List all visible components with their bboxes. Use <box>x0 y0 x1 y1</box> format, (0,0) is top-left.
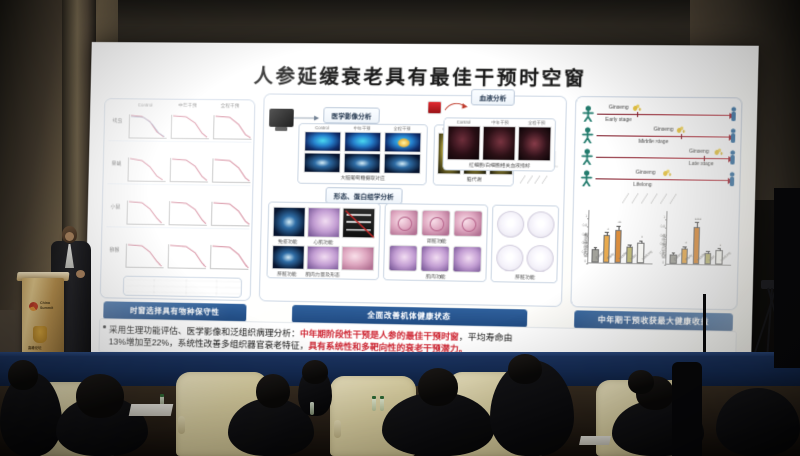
blood-image-grid: Control 中年干预 全程干预 红细胞/白细胞相关血液指标 <box>442 117 556 171</box>
error-bar <box>618 226 619 230</box>
y-tick <box>586 227 588 228</box>
species-row: 小鼠 <box>106 197 250 229</box>
timeline-axis <box>596 157 729 160</box>
significance-marker: * <box>681 241 692 246</box>
histology-label: 肌肉力量及形态 <box>305 271 340 279</box>
panel-intervention-window: Ginseng Early stage Ginseng <box>570 96 742 310</box>
imaging-image-grid: Control 中年干预 全程干预 大脑葡萄糖摄取对应 <box>297 123 428 185</box>
histology-image <box>306 246 339 271</box>
chair-arm <box>334 420 341 438</box>
error-bar-cap <box>639 240 643 241</box>
histology-image <box>307 207 340 238</box>
timeline-axis <box>595 178 728 181</box>
error-bar <box>697 223 698 228</box>
blood-smear-image <box>517 126 551 161</box>
error-bar <box>719 249 720 251</box>
cell-grid-caption: 肌肉功能 <box>384 272 488 281</box>
error-bar <box>673 253 674 255</box>
y-tick <box>664 228 666 229</box>
ginseng-icon <box>663 171 667 176</box>
audience-head <box>418 368 458 406</box>
chair-arm <box>178 416 185 434</box>
y-tick <box>665 219 667 220</box>
survival-curve-mini <box>127 157 166 182</box>
species-row: 线虫 <box>108 111 252 143</box>
bottle-cap <box>380 396 384 399</box>
logo-text: China Summit <box>40 301 53 312</box>
water-bottle <box>310 402 314 415</box>
significance-marker: ** <box>614 220 625 225</box>
species-label: 线虫 <box>109 119 126 125</box>
speaker-hand <box>76 270 85 278</box>
timeline-row: Ginseng Lifelong <box>578 168 737 191</box>
survival-curve-mini <box>213 115 252 140</box>
significance-marker: * <box>603 226 614 231</box>
image-col-label: Control <box>304 125 341 130</box>
human-figure-icon <box>580 170 594 187</box>
significance-marker: * <box>637 235 648 240</box>
y-tick <box>664 255 666 256</box>
brain-scan-image <box>304 131 341 152</box>
histology-image <box>272 245 305 270</box>
human-outcome-icon <box>728 150 737 166</box>
blood-smear-image <box>482 126 516 161</box>
brain-scan-image <box>383 153 421 174</box>
podium-seal-label: 高峰论坛 <box>28 345 42 350</box>
error-bar <box>607 233 608 236</box>
western-blot-image <box>342 208 376 239</box>
timeline-tick <box>637 112 638 117</box>
cell-image <box>452 246 482 273</box>
error-bar <box>641 241 642 244</box>
timeline-stage-label: Late stage <box>689 161 714 167</box>
survival-curve-mini <box>125 244 164 269</box>
ginseng-icon <box>715 150 719 155</box>
human-outcome-icon <box>729 107 738 123</box>
gel-image <box>526 245 554 272</box>
timeline-row: Ginseng Middle stage <box>579 125 738 147</box>
audience-head <box>76 374 124 418</box>
survival-curve-mini <box>126 201 165 226</box>
audience-head <box>8 360 38 390</box>
conclusion-text-2a: 13%增加至22%，系统性改善多组织器官衰老特征， <box>109 337 309 351</box>
error-bar <box>629 246 630 248</box>
bar-chart-benefit-2: 相对功能评分 00.20.40.60.81Control*Early****Mi… <box>665 211 732 266</box>
cell-image <box>389 209 418 236</box>
gel-grid-caption: 肝脏功能 <box>492 273 559 281</box>
scanner-device-icon <box>269 109 294 127</box>
human-outcome-icon <box>729 128 738 144</box>
cell-image <box>453 210 483 237</box>
timeline-axis <box>597 114 730 117</box>
y-tick <box>586 263 588 264</box>
y-tick <box>586 236 588 237</box>
species-label: 小鼠 <box>107 205 124 211</box>
error-bar <box>685 247 686 250</box>
gel-image <box>497 211 525 238</box>
audience-head <box>256 374 290 408</box>
survival-curve-mini <box>169 201 208 226</box>
left-col-header-3: 全程干预 <box>210 103 251 109</box>
cell-image <box>421 210 451 237</box>
error-bar <box>708 252 709 254</box>
survival-curve-mini <box>128 114 167 138</box>
bottle-cap <box>372 396 376 399</box>
brain-scan-image <box>344 132 381 153</box>
stand-pole <box>703 294 706 354</box>
timeline-tick <box>681 134 682 139</box>
ginseng-icon <box>677 128 681 133</box>
imaging-caption: 大脑葡萄糖摄取对应 <box>298 174 427 183</box>
audience-head <box>628 370 654 394</box>
logo-mark-icon <box>29 302 38 311</box>
human-figure-icon <box>581 127 595 144</box>
bottle-cap <box>160 394 164 397</box>
audience-head <box>302 360 328 384</box>
error-bar-cap <box>593 247 597 248</box>
scanner-base <box>275 127 287 131</box>
bar-chart-benefit-1: 相对健康指数 00.20.40.60.81Control*Early**Midd… <box>587 210 654 264</box>
tag-blood-analysis: 血液分析 <box>471 89 515 106</box>
left-col-header-2: 中年干预 <box>167 103 207 109</box>
blood-smear-image <box>447 126 481 161</box>
hatch-decoration <box>518 174 554 185</box>
y-tick <box>664 237 666 238</box>
survival-curve-mini <box>210 245 249 270</box>
error-bar-cap <box>695 222 699 223</box>
error-bar <box>595 248 596 250</box>
gel-image <box>527 211 555 238</box>
cell-image <box>388 245 417 272</box>
projection-screen: 人参延缓衰老具有最佳干预时空窗 Control 中年干预 全程干预 线虫 <box>84 42 759 377</box>
blood-flow-arrow-icon <box>444 101 471 113</box>
histology-label: 肝脏功能 <box>270 270 305 278</box>
summary-table <box>123 276 242 298</box>
pet-caption: 脑代谢 <box>434 175 515 183</box>
podium: China Summit 高峰论坛 <box>22 278 64 362</box>
y-tick <box>664 246 666 247</box>
tag-imaging-analysis: 医学影像分析 <box>323 107 380 124</box>
significance-marker: **** <box>693 216 704 221</box>
species-row: 果蝇 <box>107 154 251 186</box>
timeline-treatment-label: Ginseng <box>689 149 709 155</box>
human-outcome-icon <box>728 172 737 188</box>
survival-curve-mini <box>168 244 207 269</box>
bullet-icon <box>103 325 106 328</box>
podium-seal-icon <box>33 326 47 343</box>
survival-curve-mini <box>171 115 210 140</box>
brain-scan-image <box>384 132 422 153</box>
water-bottle <box>372 398 376 411</box>
gel-image-grid: 肝脏功能 <box>491 205 560 284</box>
image-col-label: Control <box>447 119 481 124</box>
blood-caption: 红细胞/白细胞相关血液指标 <box>443 161 556 169</box>
ceiling-strip <box>0 0 800 26</box>
error-bar-cap <box>605 232 609 233</box>
speaker-face <box>65 232 74 241</box>
survival-curve-mini <box>211 202 250 227</box>
timeline-row: Ginseng Early stage <box>580 103 739 125</box>
flow-arrow-icon <box>294 115 321 121</box>
histology-image-grid: 免疫功能 心肌功能 肝脏功能 肌肉力量及形态 <box>266 201 380 280</box>
conclusion-text-1b: ，平均寿命由 <box>459 332 513 343</box>
error-bar-cap <box>683 246 687 247</box>
audience-member <box>672 362 702 456</box>
dark-wall-post <box>774 188 800 368</box>
panel-species-conservation: Control 中年干预 全程干预 线虫 <box>100 98 256 301</box>
document-on-table <box>579 436 611 445</box>
timeline-axis <box>597 135 730 138</box>
blood-sample-swatch <box>427 101 442 114</box>
podium-logo: China Summit <box>29 300 57 318</box>
error-bar-cap <box>706 251 710 252</box>
presentation-slide: 人参延缓衰老具有最佳干预时空窗 Control 中年干预 全程干预 线虫 <box>84 42 759 377</box>
histology-image <box>341 246 374 271</box>
human-figure-icon <box>580 148 594 165</box>
gel-image <box>496 244 524 271</box>
audience-head <box>508 354 542 384</box>
error-bar-cap <box>617 226 621 227</box>
survival-curve-mini <box>212 158 251 183</box>
y-tick <box>586 254 588 255</box>
conference-hall-scene: 人参延缓衰老具有最佳干预时空窗 Control 中年干预 全程干预 线虫 <box>0 0 800 456</box>
brain-scan-image <box>304 152 341 173</box>
left-col-header-1: Control <box>125 102 165 107</box>
timeline-treatment-label: Ginseng <box>654 127 674 133</box>
significance-marker: * <box>715 243 726 248</box>
survival-curve-mini <box>170 158 209 183</box>
document-on-table <box>129 404 174 416</box>
hatch-decoration <box>620 192 684 205</box>
species-label: 猕猴 <box>106 248 123 254</box>
error-bar-cap <box>671 252 675 253</box>
error-bar-cap <box>627 245 631 246</box>
species-row: 猕猴 <box>105 240 249 273</box>
y-tick <box>586 245 588 246</box>
cell-image-grid: 肾脏功能 肌肉功能 <box>383 203 488 282</box>
error-bar-cap <box>717 248 721 249</box>
water-bottle <box>380 398 384 411</box>
timeline-stage-label: Early stage <box>605 117 632 123</box>
ginseng-icon <box>633 106 637 111</box>
timeline-stage-label: Middle stage <box>638 139 668 145</box>
species-label: 果蝇 <box>108 162 125 168</box>
timeline-stage-label: Lifelong <box>633 182 652 188</box>
logo-line-2: Summit <box>40 306 53 311</box>
histology-image <box>273 207 306 238</box>
slide-title: 人参延缓衰老具有最佳干预时空窗 <box>91 60 759 92</box>
timeline-row: Ginseng Late stage <box>579 146 738 168</box>
cell-image <box>420 245 450 272</box>
y-tick <box>587 218 589 219</box>
timeline-treatment-label: Ginseng <box>636 170 656 176</box>
y-tick <box>664 264 666 265</box>
human-figure-icon <box>581 105 595 122</box>
timeline-treatment-label: Ginseng <box>609 105 629 111</box>
brain-scan-image <box>343 153 380 174</box>
